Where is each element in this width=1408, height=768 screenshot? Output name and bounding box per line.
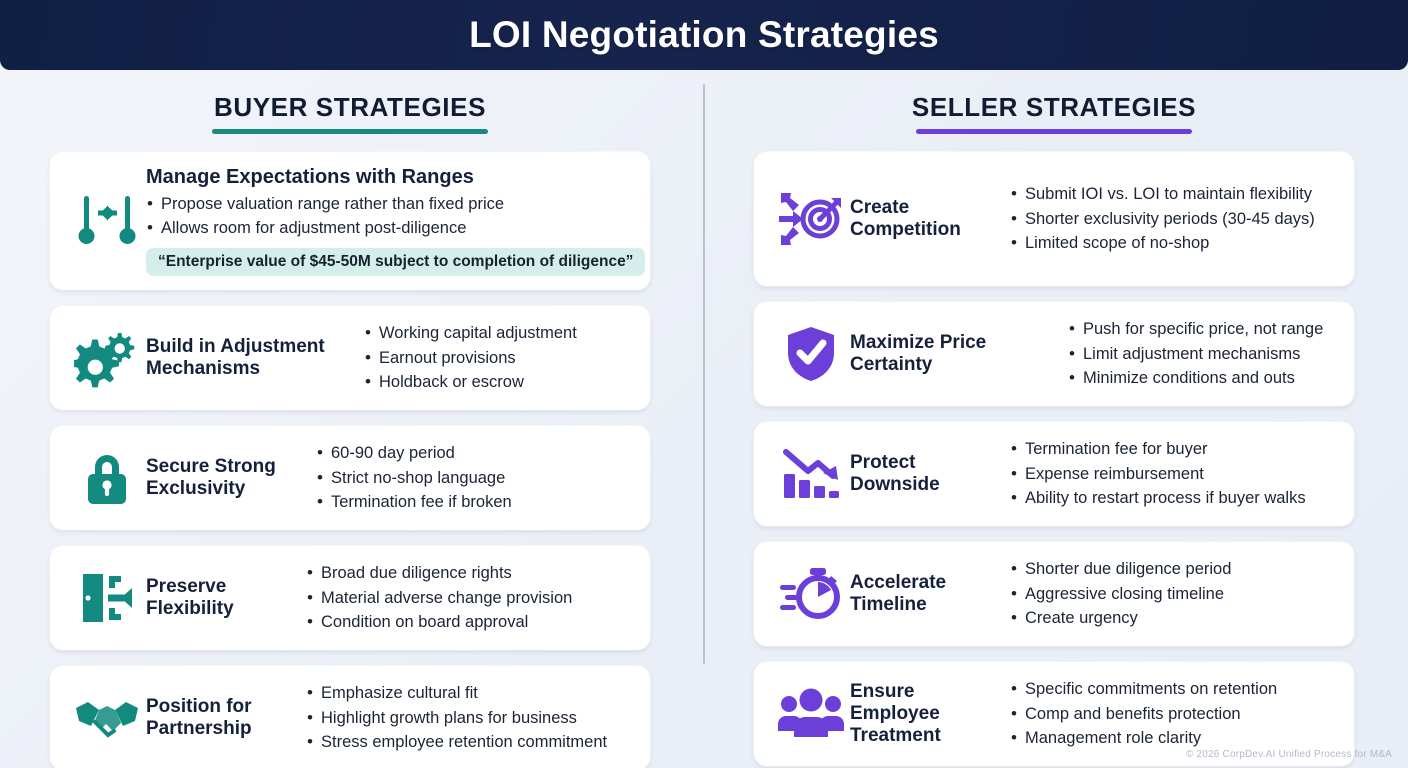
seller-column-header: SELLER STRATEGIES	[754, 92, 1354, 134]
people-group-icon	[772, 687, 850, 741]
footer-copyright: © 2026 CorpDev.AI Unified Process for M&…	[1186, 749, 1392, 760]
strategy-columns: BUYER STRATEGIES	[0, 70, 1408, 768]
seller-card-create-competition[interactable]: Create Competition Submit IOI vs. LOI to…	[754, 152, 1354, 286]
card-bullets: Termination fee for buyer Expense reimbu…	[1010, 437, 1336, 510]
card-title: Manage Expectations with Ranges	[146, 166, 632, 189]
stopwatch-icon	[772, 564, 850, 624]
bullet-item: Highlight growth plans for business	[306, 706, 632, 730]
bullet-item: Ability to restart process if buyer walk…	[1010, 486, 1336, 510]
range-arrow-icon	[68, 190, 146, 252]
bullet-item: Earnout provisions	[364, 346, 632, 370]
card-content: Protect Downside Termination fee for buy…	[850, 437, 1336, 510]
bullet-item: Limit adjustment mechanisms	[1068, 342, 1336, 366]
buyer-column-title: BUYER STRATEGIES	[214, 92, 486, 123]
card-title: Secure Strong Exclusivity	[146, 456, 316, 500]
card-content: Position for Partnership Emphasize cultu…	[146, 681, 632, 754]
target-arrows-icon	[772, 187, 850, 251]
bullet-item: Expense reimbursement	[1010, 462, 1336, 486]
card-content: Create Competition Submit IOI vs. LOI to…	[850, 182, 1336, 255]
bullet-item: Management role clarity	[1010, 726, 1336, 750]
bullet-item: Emphasize cultural fit	[306, 681, 632, 705]
seller-column: SELLER STRATEGIES	[754, 92, 1354, 768]
seller-card-protect-downside[interactable]: Protect Downside Termination fee for buy…	[754, 422, 1354, 526]
bullet-item: Limited scope of no-shop	[1010, 231, 1336, 255]
card-title: Maximize Price Certainty	[850, 332, 1068, 376]
card-content: Maximize Price Certainty Push for specif…	[850, 317, 1336, 390]
card-bullets: Working capital adjustment Earnout provi…	[364, 321, 632, 394]
bullet-item: Minimize conditions and outs	[1068, 366, 1336, 390]
card-content: Preserve Flexibility Broad due diligence…	[146, 561, 632, 634]
card-bullets: 60-90 day period Strict no-shop language…	[316, 441, 632, 514]
buyer-column-header: BUYER STRATEGIES	[50, 92, 650, 134]
card-bullets: Broad due diligence rights Material adve…	[306, 561, 632, 634]
bullet-item: Termination fee for buyer	[1010, 437, 1336, 461]
column-divider	[703, 84, 705, 664]
handshake-icon	[68, 693, 146, 743]
bullet-item: Condition on board approval	[306, 610, 632, 634]
card-bullets: Specific commitments on retention Comp a…	[1010, 677, 1336, 750]
card-title: Position for Partnership	[146, 696, 306, 740]
bullet-item: Push for specific price, not range	[1068, 317, 1336, 341]
bullet-item: Working capital adjustment	[364, 321, 632, 345]
card-bullets: Propose valuation range rather than fixe…	[146, 192, 632, 241]
card-content: Ensure Employee Treatment Specific commi…	[850, 677, 1336, 750]
bullet-item: Create urgency	[1010, 606, 1336, 630]
buyer-card-position-partnership[interactable]: Position for Partnership Emphasize cultu…	[50, 666, 650, 768]
bullet-item: Strict no-shop language	[316, 466, 632, 490]
bullet-item: Broad due diligence rights	[306, 561, 632, 585]
bullet-item: Material adverse change provision	[306, 586, 632, 610]
card-title: Protect Downside	[850, 452, 1010, 496]
bullet-item: Shorter exclusivity periods (30-45 days)	[1010, 207, 1336, 231]
buyer-card-secure-exclusivity[interactable]: Secure Strong Exclusivity 60-90 day peri…	[50, 426, 650, 530]
buyer-card-adjustment-mechanisms[interactable]: Build in Adjustment Mechanisms Working c…	[50, 306, 650, 410]
card-title: Ensure Employee Treatment	[850, 681, 1010, 747]
buyer-card-preserve-flexibility[interactable]: Preserve Flexibility Broad due diligence…	[50, 546, 650, 650]
lock-icon	[68, 447, 146, 509]
bullet-item: Submit IOI vs. LOI to maintain flexibili…	[1010, 182, 1336, 206]
page-header: LOI Negotiation Strategies	[0, 0, 1408, 70]
card-content: Accelerate Timeline Shorter due diligenc…	[850, 557, 1336, 630]
bullet-item: 60-90 day period	[316, 441, 632, 465]
bullet-item: Specific commitments on retention	[1010, 677, 1336, 701]
card-title: Preserve Flexibility	[146, 576, 306, 620]
gears-icon	[68, 327, 146, 389]
page-title: LOI Negotiation Strategies	[469, 14, 939, 56]
bullet-item: Shorter due diligence period	[1010, 557, 1336, 581]
card-quote: “Enterprise value of $45-50M subject to …	[146, 248, 645, 276]
seller-accent-rule	[916, 129, 1192, 134]
bullet-item: Allows room for adjustment post-diligenc…	[146, 216, 632, 240]
declining-chart-icon	[772, 444, 850, 504]
card-bullets: Submit IOI vs. LOI to maintain flexibili…	[1010, 182, 1336, 255]
card-content: Manage Expectations with Ranges Propose …	[146, 166, 632, 276]
buyer-column: BUYER STRATEGIES	[50, 92, 650, 768]
card-content: Build in Adjustment Mechanisms Working c…	[146, 321, 632, 394]
card-title: Create Competition	[850, 197, 1010, 241]
bullet-item: Holdback or escrow	[364, 370, 632, 394]
buyer-accent-rule	[212, 129, 488, 134]
buyer-card-manage-expectations[interactable]: Manage Expectations with Ranges Propose …	[50, 152, 650, 290]
bullet-item: Aggressive closing timeline	[1010, 582, 1336, 606]
card-bullets: Emphasize cultural fit Highlight growth …	[306, 681, 632, 754]
card-bullets: Push for specific price, not range Limit…	[1068, 317, 1336, 390]
seller-card-accelerate-timeline[interactable]: Accelerate Timeline Shorter due diligenc…	[754, 542, 1354, 646]
shield-check-icon	[772, 323, 850, 385]
seller-card-maximize-price-certainty[interactable]: Maximize Price Certainty Push for specif…	[754, 302, 1354, 406]
card-content: Secure Strong Exclusivity 60-90 day peri…	[146, 441, 632, 514]
card-bullets: Shorter due diligence period Aggressive …	[1010, 557, 1336, 630]
exit-door-icon	[68, 568, 146, 628]
card-title: Build in Adjustment Mechanisms	[146, 336, 364, 380]
bullet-item: Termination fee if broken	[316, 490, 632, 514]
card-title: Accelerate Timeline	[850, 572, 1010, 616]
infographic-page: LOI Negotiation Strategies BUYER STRATEG…	[0, 0, 1408, 768]
bullet-item: Stress employee retention commitment	[306, 730, 632, 754]
bullet-item: Comp and benefits protection	[1010, 702, 1336, 726]
seller-column-title: SELLER STRATEGIES	[912, 92, 1196, 123]
bullet-item: Propose valuation range rather than fixe…	[146, 192, 632, 216]
